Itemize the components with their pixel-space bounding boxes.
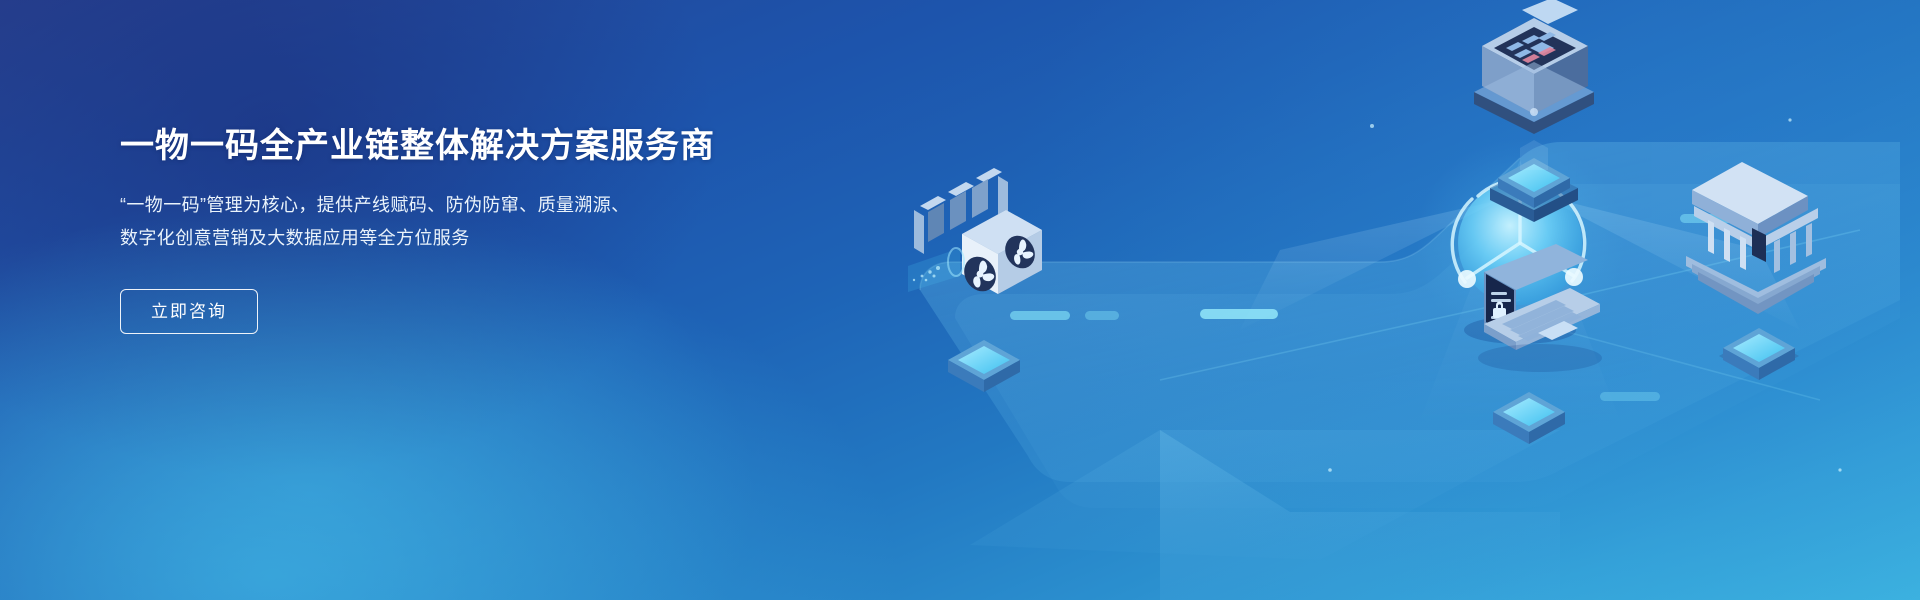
- server-fan-icon: [908, 168, 1042, 297]
- page-title: 一物一码全产业链整体解决方案服务商: [120, 126, 820, 167]
- hero-subtitle: “一物一码”管理为核心，提供产线赋码、防伪防窜、质量溯源、 数字化创意营销及大数…: [120, 189, 820, 256]
- hero-banner: 一物一码全产业链整体解决方案服务商 “一物一码”管理为核心，提供产线赋码、防伪防…: [0, 0, 1920, 600]
- consult-now-button[interactable]: 立即咨询: [120, 289, 258, 334]
- hero-subtitle-line-1: “一物一码”管理为核心，提供产线赋码、防伪防窜、质量溯源、: [120, 189, 820, 222]
- isometric-illustration: [860, 0, 1920, 600]
- hero-subtitle-line-2: 数字化创意营销及大数据应用等全方位服务: [120, 222, 820, 255]
- pos-terminal-icon: [1474, 0, 1594, 134]
- hero-content: 一物一码全产业链整体解决方案服务商 “一物一码”管理为核心，提供产线赋码、防伪防…: [120, 126, 820, 334]
